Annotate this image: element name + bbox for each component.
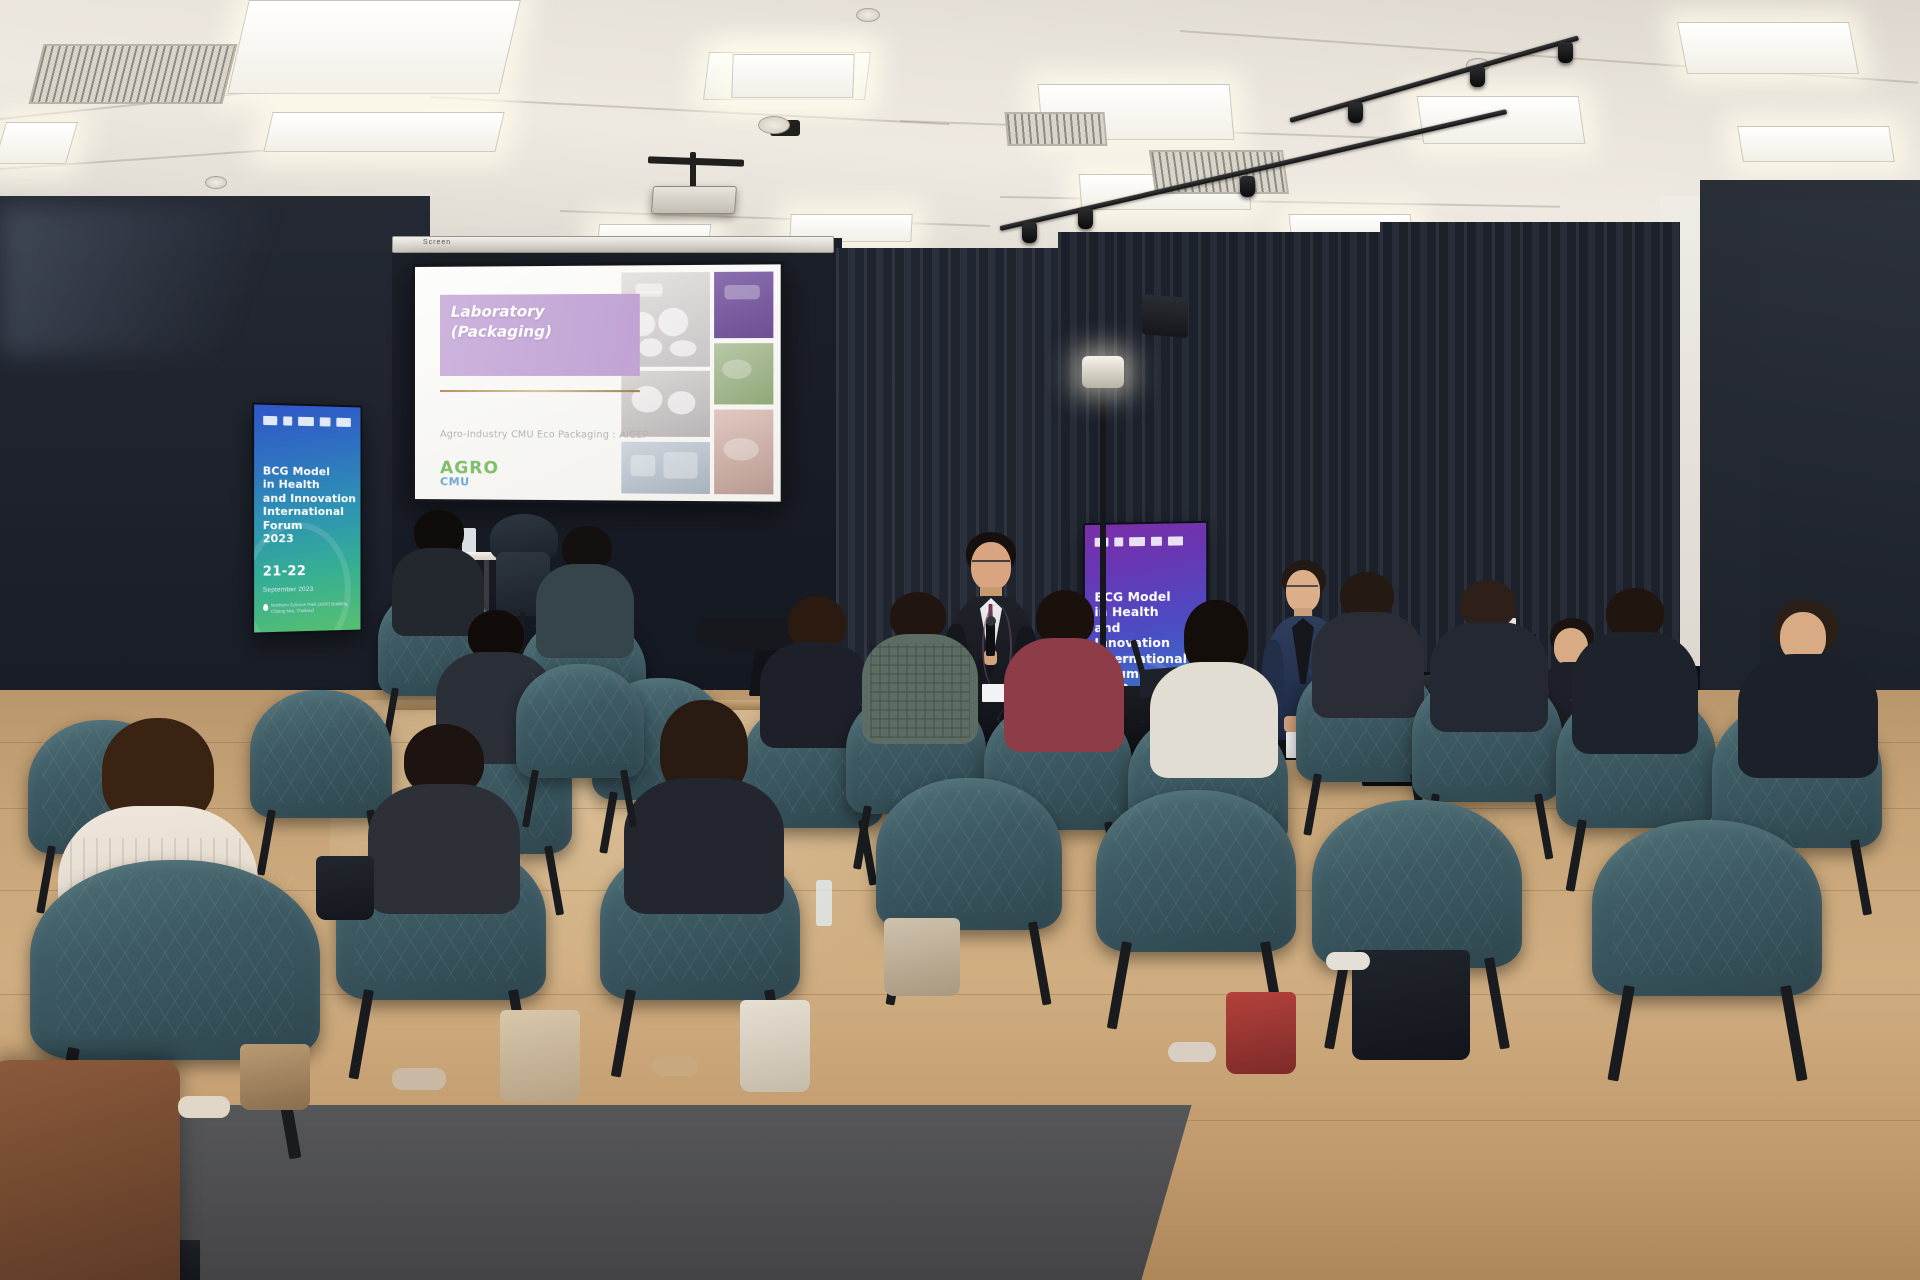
- slide-divider-rule: [440, 390, 640, 392]
- shoe: [1326, 952, 1370, 970]
- banner-logo-row: [263, 416, 351, 427]
- banner-logo-row: [1094, 536, 1182, 546]
- partner-logo-icon: [1168, 536, 1183, 545]
- audience-member: [624, 700, 784, 900]
- slide-photo-green-lab: [714, 343, 774, 405]
- ceiling-light-panel: [1737, 126, 1895, 162]
- plaid-pattern: [870, 644, 970, 738]
- audience-member: [862, 592, 978, 738]
- ceiling-light-panel: [227, 0, 521, 94]
- wall-speaker: [1142, 294, 1188, 338]
- banner-title-line: International Forum: [263, 505, 357, 532]
- tote-bag: [500, 1010, 580, 1102]
- slide-photo-lab-equipment: [621, 371, 709, 437]
- partner-logo-icon: [1114, 537, 1123, 546]
- shoe: [178, 1096, 230, 1118]
- water-bottle: [816, 880, 832, 926]
- red-backpack: [1226, 992, 1296, 1074]
- audience-member: [1572, 588, 1698, 748]
- venue-line1: Northern Science Park (NSP) Building,: [271, 601, 349, 608]
- spotlight: [1078, 208, 1093, 229]
- agro-logo-text: AGRO: [440, 461, 499, 477]
- ceiling-light-panel: [0, 122, 78, 164]
- banner-title-line: 2023: [263, 532, 357, 546]
- spotlight: [1558, 42, 1573, 63]
- ceiling-light-panel: [1417, 96, 1586, 144]
- handbag: [240, 1044, 310, 1110]
- slide-title-line1: Laboratory: [451, 301, 640, 322]
- spotlight: [1240, 176, 1255, 197]
- slide-title-line2: (Packaging): [451, 321, 640, 342]
- smoke-detector: [856, 8, 880, 22]
- presentation-slide: Laboratory (Packaging) Agro-Industry CMU…: [415, 264, 781, 501]
- banner-title-line: and Innovation: [263, 491, 357, 505]
- partner-logo-icon: [336, 418, 351, 427]
- shoe: [1168, 1042, 1216, 1062]
- banner-month: September 2023: [263, 586, 314, 594]
- venue-line2: Chiang Mai, Thailand: [271, 608, 314, 614]
- banner-title-line: BCG Model: [263, 464, 357, 479]
- partner-logo-icon: [298, 417, 314, 426]
- wall-light-reflection: [0, 205, 340, 355]
- banner-title-line: in Health: [263, 478, 357, 492]
- tote-bag: [740, 1000, 810, 1092]
- backpack: [1352, 950, 1470, 1060]
- audience-member: [1004, 590, 1124, 742]
- ceiling-light-panel: [731, 54, 855, 98]
- projection-screen-case: Screen: [392, 236, 834, 253]
- partner-logo-icon: [1129, 537, 1145, 546]
- smoke-detector: [758, 116, 790, 134]
- audience-member: [1150, 600, 1278, 766]
- foreground-leather-chair: [0, 1060, 180, 1280]
- shoe: [652, 1056, 698, 1076]
- audience-member: [1312, 572, 1424, 712]
- location-pin-icon: [263, 604, 268, 611]
- banner-dates: 21-22: [263, 564, 306, 580]
- spotlight: [1022, 222, 1037, 243]
- slide-agro-cmu-logo: AGRO CMU: [440, 461, 499, 488]
- screen-case-label: Screen: [423, 239, 451, 246]
- ceiling-light-panel: [1677, 22, 1859, 74]
- spotlight: [1470, 66, 1485, 87]
- audience-member: [1738, 600, 1878, 772]
- slide-photo-purple-poster: [714, 272, 774, 339]
- hvac-vent: [1005, 112, 1108, 146]
- partner-logo-icon: [283, 417, 292, 426]
- bag: [316, 856, 374, 920]
- smoke-detector: [205, 176, 227, 189]
- audience-member: [1430, 580, 1548, 726]
- projector: [651, 186, 737, 214]
- slide-subtitle: Agro-Industry CMU Eco Packaging : AICEP: [440, 429, 702, 441]
- spotlight: [1348, 102, 1363, 123]
- slide-photo-exhibition-booth: [714, 409, 774, 494]
- shoe: [392, 1068, 446, 1090]
- slide-title: Laboratory (Packaging): [451, 301, 640, 343]
- projection-screen: Laboratory (Packaging) Agro-Industry CMU…: [412, 261, 784, 504]
- banner-left-rollup: BCG Model in Health and Innovation Inter…: [252, 402, 362, 634]
- audience-member: [368, 724, 520, 904]
- chair: [516, 664, 644, 822]
- studio-light-head: [1082, 356, 1124, 388]
- banner-title: BCG Model in Health and Innovation Inter…: [263, 464, 357, 546]
- hvac-vent: [29, 44, 238, 104]
- chair: [1592, 820, 1822, 1080]
- presenter-glasses: [972, 560, 1010, 569]
- banner-venue-text: Northern Science Park (NSP) Building, Ch…: [271, 601, 349, 615]
- banner-venue: Northern Science Park (NSP) Building, Ch…: [263, 601, 357, 615]
- partner-logo-icon: [319, 418, 330, 427]
- handbag: [884, 918, 960, 996]
- slide-photo-cleanroom: [621, 442, 709, 494]
- seminar-room-photo: Screen: [0, 0, 1920, 1280]
- ceiling-light-panel: [263, 112, 504, 152]
- partner-logo-icon: [1151, 536, 1162, 545]
- partner-logo-icon: [263, 416, 277, 425]
